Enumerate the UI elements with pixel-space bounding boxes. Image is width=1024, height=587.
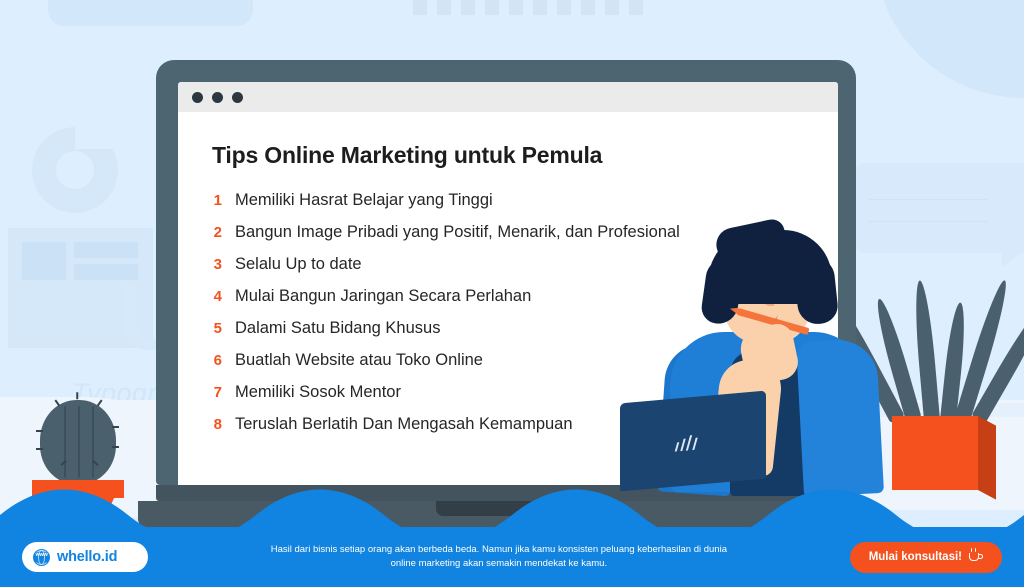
close-dot-icon[interactable] (192, 92, 203, 103)
list-item: 1 Memiliki Hasrat Belajar yang Tinggi (212, 191, 804, 210)
maximize-dot-icon[interactable] (232, 92, 243, 103)
list-item-label: Memiliki Hasrat Belajar yang Tinggi (235, 191, 493, 210)
list-item: 7 Memiliki Sosok Mentor (212, 383, 804, 402)
page-title: Tips Online Marketing untuk Pemula (212, 142, 804, 169)
list-item: 2 Bangun Image Pribadi yang Positif, Men… (212, 223, 804, 242)
slide-content: Tips Online Marketing untuk Pemula 1 Mem… (178, 112, 838, 434)
list-item-number: 3 (212, 256, 222, 273)
list-item-number: 1 (212, 192, 222, 209)
list-item-number: 7 (212, 384, 222, 401)
list-item: 8 Teruslah Berlatih Dan Mengasah Kemampu… (212, 415, 804, 434)
list-item-number: 4 (212, 288, 222, 305)
cactus-body (40, 400, 116, 484)
person-laptop (620, 391, 766, 492)
decor-vertical-bars (413, 0, 643, 15)
decor-quarter-circle (874, 0, 1024, 98)
start-consultation-label: Mulai konsultasi! (869, 551, 962, 563)
list-item-number: 8 (212, 416, 222, 433)
coffee-cup-icon (969, 551, 983, 563)
laptop-base (138, 501, 874, 527)
cactus-pot-rim (32, 480, 124, 498)
list-item-number: 5 (212, 320, 222, 337)
cactus-plant (26, 400, 136, 515)
person-right-arm (796, 338, 884, 497)
minimize-dot-icon[interactable] (212, 92, 223, 103)
laptop-screen-bezel: Tips Online Marketing untuk Pemula 1 Mem… (156, 60, 856, 485)
brand-logo-text: whello.id (57, 549, 117, 565)
list-item: 6 Buatlah Website atau Toko Online (212, 351, 804, 370)
snake-plant (872, 272, 1012, 472)
slide-canvas: UI Typography (0, 0, 1024, 587)
start-consultation-button[interactable]: Mulai konsultasi! (850, 542, 1002, 573)
laptop-base-notch (436, 501, 576, 516)
list-item-label: Selalu Up to date (235, 255, 362, 274)
laptop-brand-icon (676, 434, 702, 452)
globe-icon: www (33, 549, 50, 566)
footer-disclaimer-line2: online marketing akan semakin mendekat k… (162, 557, 836, 571)
list-item-label: Buatlah Website atau Toko Online (235, 351, 483, 370)
list-item-number: 6 (212, 352, 222, 369)
list-item-label: Dalami Satu Bidang Khusus (235, 319, 440, 338)
list-item: 5 Dalami Satu Bidang Khusus (212, 319, 804, 338)
globe-icon-label: www (36, 553, 48, 559)
list-item: 3 Selalu Up to date (212, 255, 804, 274)
list-item-label: Bangun Image Pribadi yang Positif, Menar… (235, 223, 680, 242)
decor-rounded-rect (48, 0, 253, 26)
list-item-label: Memiliki Sosok Mentor (235, 383, 401, 402)
browser-titlebar (178, 82, 838, 112)
footer-bar: www whello.id Hasil dari bisnis setiap o… (0, 527, 1024, 587)
brand-logo[interactable]: www whello.id (22, 542, 148, 572)
list-item-number: 2 (212, 224, 222, 241)
list-item: 4 Mulai Bangun Jaringan Secara Perlahan (212, 287, 804, 306)
footer-disclaimer: Hasil dari bisnis setiap orang akan berb… (148, 543, 850, 571)
list-item-label: Mulai Bangun Jaringan Secara Perlahan (235, 287, 531, 306)
footer-disclaimer-line1: Hasil dari bisnis setiap orang akan berb… (162, 543, 836, 557)
decor-donut-ring (32, 127, 118, 213)
snake-plant-pot (892, 416, 978, 490)
list-item-label: Teruslah Berlatih Dan Mengasah Kemampuan (235, 415, 573, 434)
